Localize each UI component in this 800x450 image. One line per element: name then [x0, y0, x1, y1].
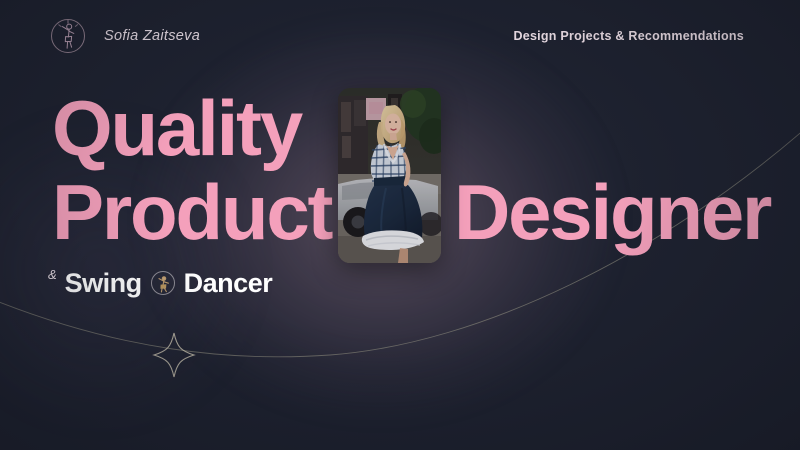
brand-name: Sofia Zaitseva: [104, 28, 200, 44]
subline-word-dancer: Dancer: [184, 268, 273, 299]
subline-block: & Swing Dancer: [48, 265, 272, 301]
headline-word-designer: Designer: [454, 170, 770, 254]
subline-word-swing: Swing: [65, 268, 142, 299]
brand-block[interactable]: Sofia Zaitseva: [46, 14, 200, 58]
dancer-badge-icon: [149, 269, 177, 297]
header-tagline: Design Projects & Recommendations: [513, 29, 744, 43]
four-point-sparkle-icon: [154, 333, 194, 377]
headline-word-product: Product: [52, 170, 331, 254]
slide-canvas: Sofia Zaitseva Design Projects & Recomme…: [0, 0, 800, 450]
headline-word-quality: Quality: [52, 86, 301, 170]
portrait-photo: [338, 88, 441, 263]
slide-header: Sofia Zaitseva Design Projects & Recomme…: [0, 0, 800, 72]
ampersand: &: [48, 267, 57, 282]
portrait-photo-card: [338, 88, 441, 263]
dancer-in-circle-logo-icon: [46, 14, 90, 58]
